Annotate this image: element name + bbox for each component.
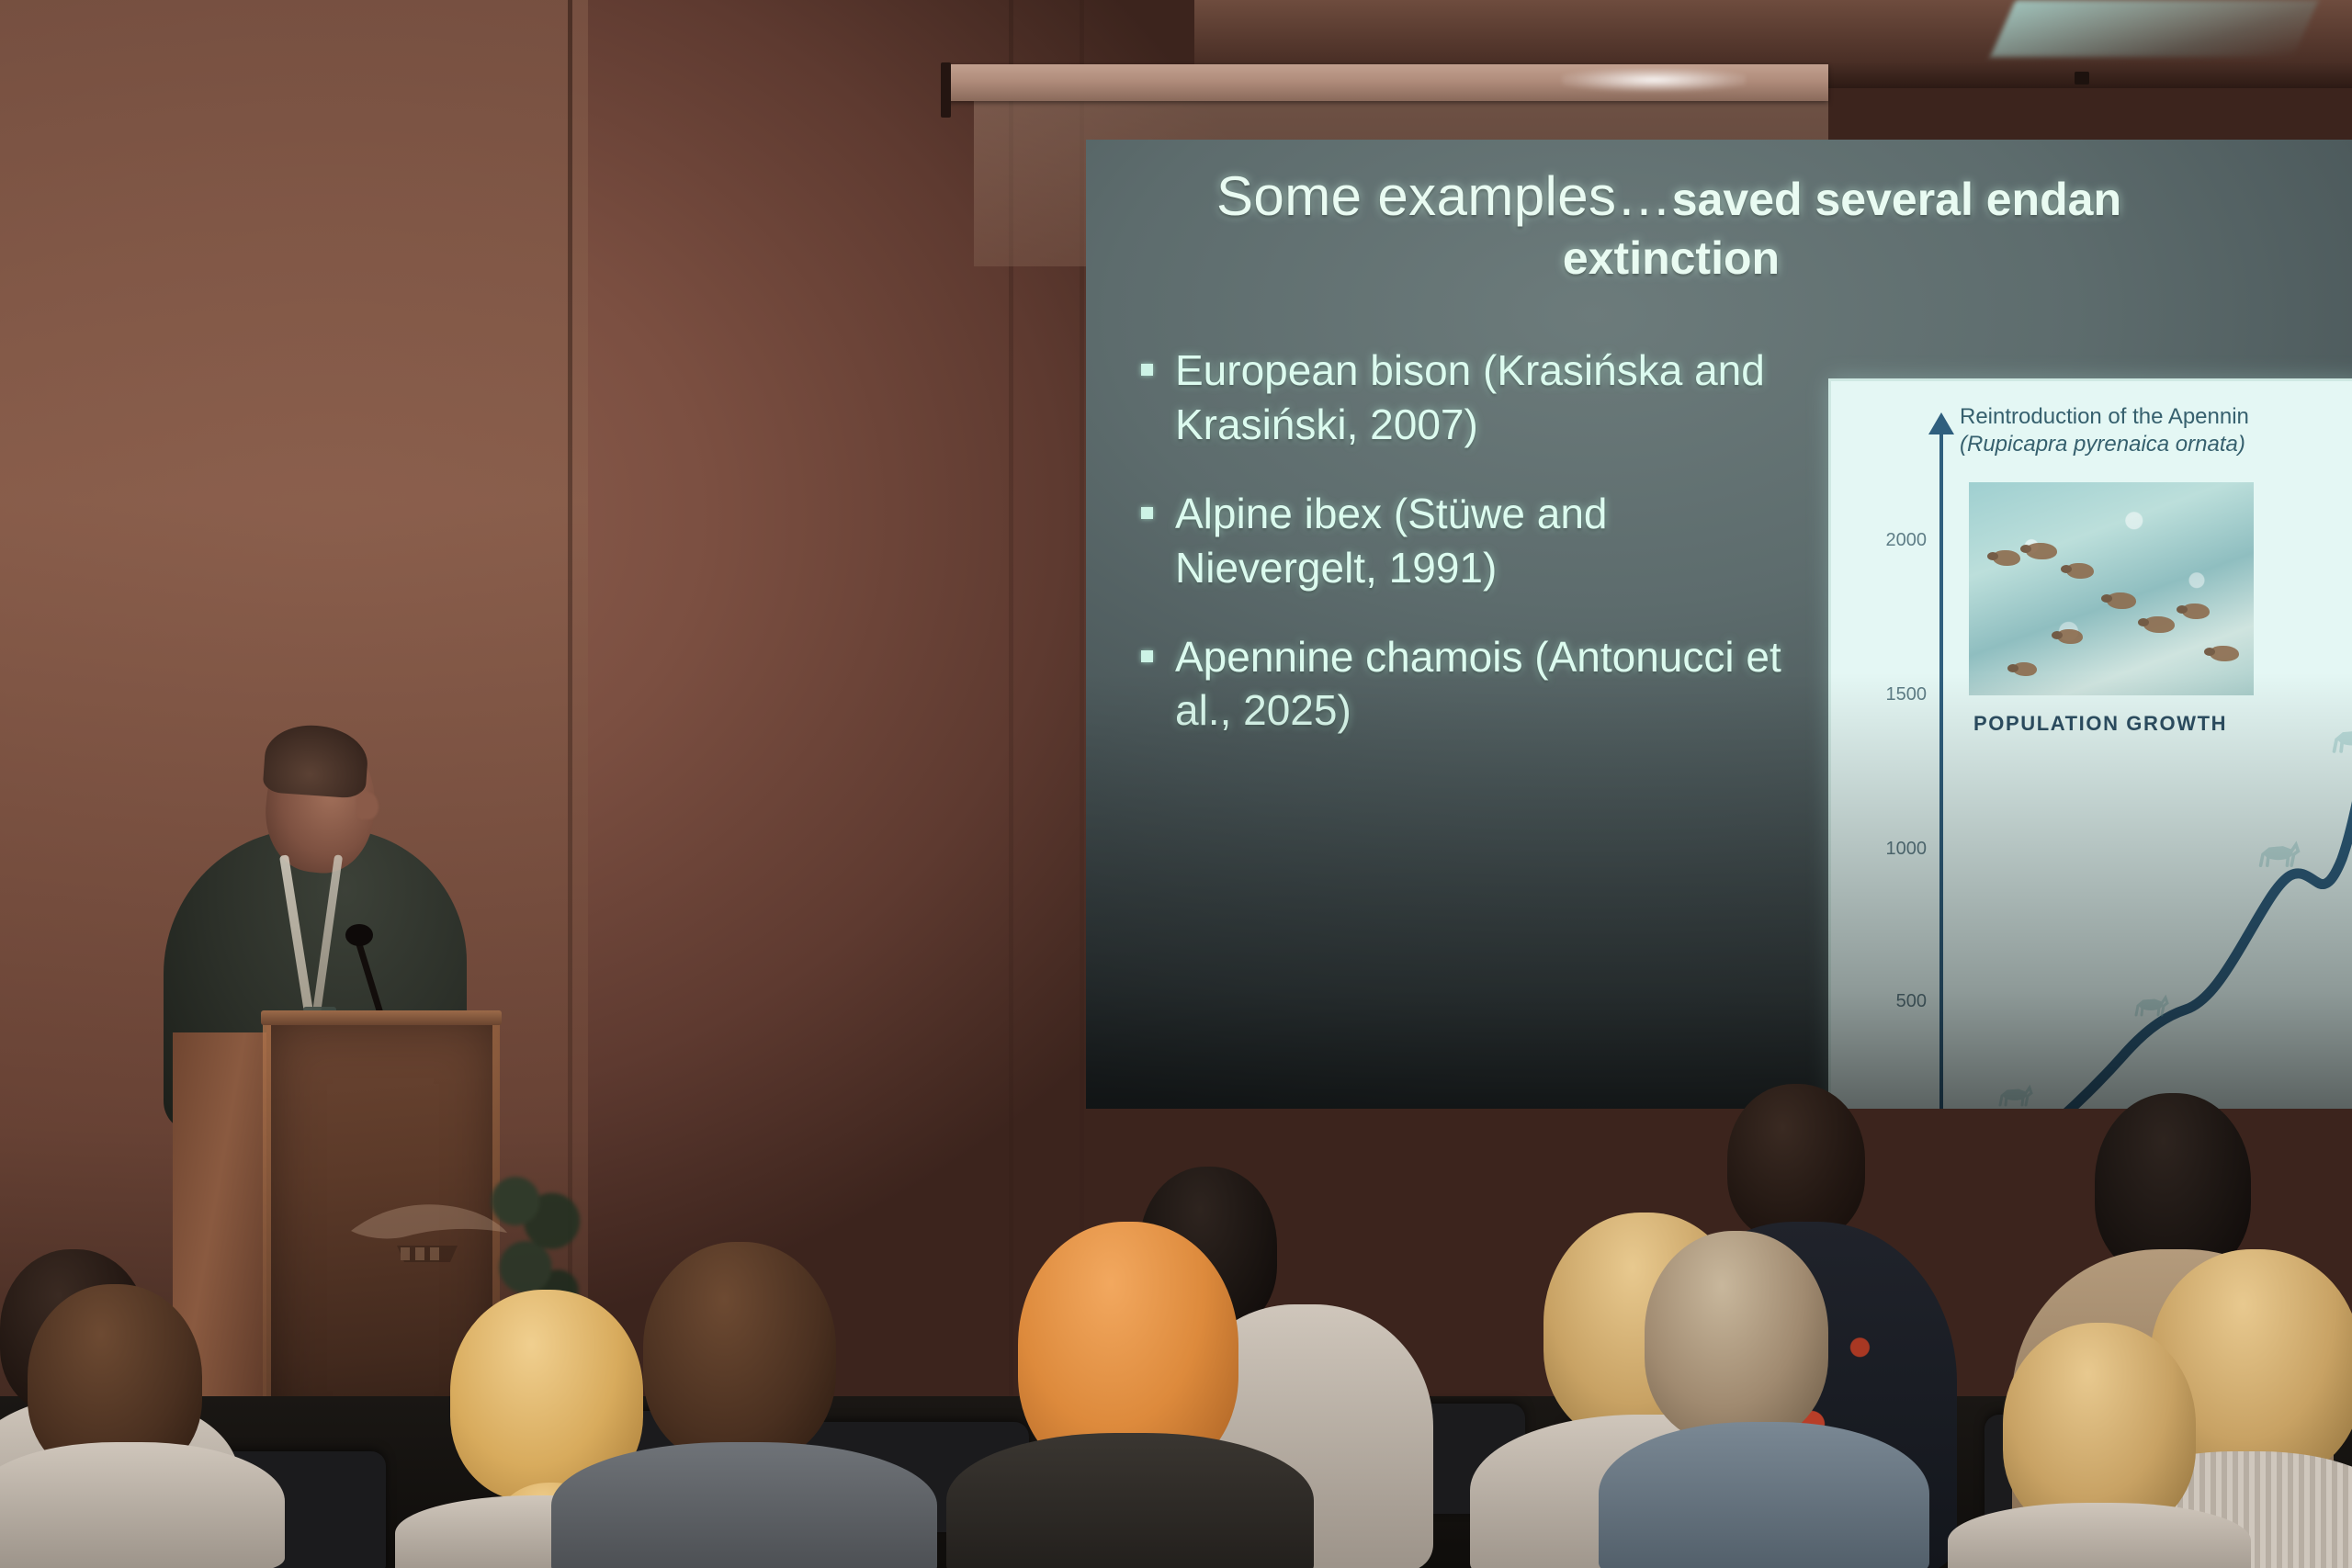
bullet-text: European bison (Krasińska and Krasiński,…: [1175, 344, 1803, 452]
bullet-text: Alpine ibex (Stüwe and Nievergelt, 1991): [1175, 487, 1803, 595]
bullet-square-icon: [1141, 507, 1153, 519]
ceiling-vent: [2075, 72, 2089, 85]
chamois-marker-icon: [2254, 837, 2305, 870]
audience-shoulders: [0, 1442, 285, 1568]
bullet-text: Apennine chamois (Antonucci et al., 2025…: [1175, 630, 1803, 739]
audience-head: [1645, 1231, 1828, 1442]
presentation-photo: Some examples…saved several endan extinc…: [0, 0, 2352, 1568]
specular-highlight: [1562, 68, 1746, 92]
audience-head: [1727, 1084, 1865, 1240]
slide-title-bold: saved several endan: [1672, 174, 2121, 225]
slide-title: Some examples…saved several endan extinc…: [1150, 165, 2352, 284]
speaker-profile: [356, 792, 379, 819]
audience-shoulders: [551, 1442, 937, 1568]
podium-top-surface: [261, 1010, 502, 1025]
bullet-square-icon: [1141, 364, 1153, 376]
audience-head: [643, 1242, 836, 1462]
audience-shoulders: [1599, 1422, 1929, 1568]
bullet-square-icon: [1141, 650, 1153, 662]
list-item: European bison (Krasińska and Krasiński,…: [1141, 344, 1803, 452]
valance-end-cap: [941, 62, 951, 118]
slide-title-line2: extinction: [1563, 232, 1780, 284]
audience-shoulders: [1948, 1503, 2251, 1568]
chamois-marker-icon: [1995, 1081, 2037, 1109]
slide-bullet-list: European bison (Krasińska and Krasiński,…: [1141, 344, 1803, 773]
projection-screen: Some examples…saved several endan extinc…: [1086, 140, 2352, 1109]
microphone-icon: [345, 924, 373, 946]
slide-title-regular: Some examples…: [1216, 165, 1672, 227]
projector-light-spill: [1990, 0, 2319, 57]
population-growth-chart: Reintroduction of the Apennin (Rupicapra…: [1828, 378, 2352, 1109]
chamois-marker-icon: [2327, 721, 2352, 756]
audience-shoulders: [946, 1433, 1314, 1568]
population-line: [1831, 381, 2352, 1109]
podium-edge: [263, 1014, 271, 1457]
chamois-marker-icon: [2131, 991, 2173, 1019]
list-item: Apennine chamois (Antonucci et al., 2025…: [1141, 630, 1803, 739]
list-item: Alpine ibex (Stüwe and Nievergelt, 1991): [1141, 487, 1803, 595]
